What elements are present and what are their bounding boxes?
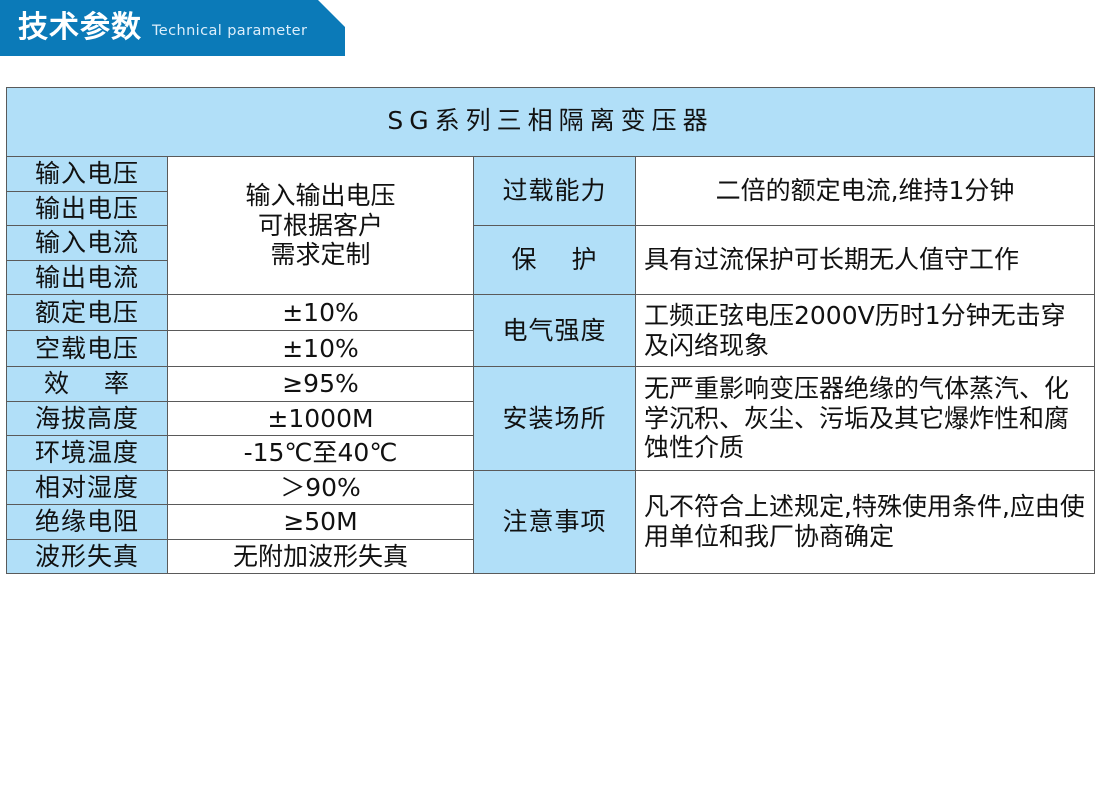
row-label-output-current: 输出电流	[7, 260, 168, 295]
row-label-no-load-voltage: 空载电压	[7, 331, 168, 367]
row-label-input-current: 输入电流	[7, 226, 168, 261]
row-label-output-voltage: 输出电压	[7, 191, 168, 226]
table-title: SG系列三相隔离变压器	[7, 88, 1095, 157]
row-label-precautions: 注意事项	[474, 470, 636, 574]
row-value-protection: 具有过流保护可长期无人值守工作	[636, 226, 1095, 295]
table-row: 输入电压 输入输出电压 可根据客户 需求定制 过载能力 二倍的额定电流,维持1分…	[7, 157, 1095, 192]
row-value-relative-humidity: ＞90%	[168, 470, 474, 505]
note-line-1: 输入输出电压	[172, 181, 469, 211]
custom-voltage-note: 输入输出电压 可根据客户 需求定制	[168, 157, 474, 295]
row-value-rated-voltage: ±10%	[168, 295, 474, 331]
banner-content: 技术参数 Technical parameter	[0, 0, 345, 56]
row-label-rated-voltage: 额定电压	[7, 295, 168, 331]
row-label-installation-site: 安装场所	[474, 367, 636, 471]
page-header-banner: 技术参数 Technical parameter	[0, 0, 1100, 56]
table-title-row: SG系列三相隔离变压器	[7, 88, 1095, 157]
row-value-insulation-resistance: ≥50M	[168, 505, 474, 540]
table-row: 效率 ≥95% 安装场所 无严重影响变压器绝缘的气体蒸汽、化学沉积、灰尘、污垢及…	[7, 367, 1095, 402]
row-label-waveform-distortion: 波形失真	[7, 539, 168, 574]
row-label-protection: 保护	[474, 226, 636, 295]
table-row: 相对湿度 ＞90% 注意事项 凡不符合上述规定,特殊使用条件,应由使用单位和我厂…	[7, 470, 1095, 505]
row-value-ambient-temperature: -15℃至40℃	[168, 436, 474, 471]
row-label-relative-humidity: 相对湿度	[7, 470, 168, 505]
banner-title-cn: 技术参数	[18, 13, 142, 43]
row-label-altitude: 海拔高度	[7, 401, 168, 436]
note-line-3: 需求定制	[172, 240, 469, 270]
row-value-efficiency: ≥95%	[168, 367, 474, 402]
row-label-overload-capacity: 过载能力	[474, 157, 636, 226]
row-value-precautions: 凡不符合上述规定,特殊使用条件,应由使用单位和我厂协商确定	[636, 470, 1095, 574]
note-line-2: 可根据客户	[172, 211, 469, 241]
row-label-efficiency: 效率	[7, 367, 168, 402]
row-label-ambient-temperature: 环境温度	[7, 436, 168, 471]
row-value-installation-site: 无严重影响变压器绝缘的气体蒸汽、化学沉积、灰尘、污垢及其它爆炸性和腐蚀性介质	[636, 367, 1095, 471]
row-label-insulation-resistance: 绝缘电阻	[7, 505, 168, 540]
row-label-dielectric-strength: 电气强度	[474, 295, 636, 367]
row-value-waveform-distortion: 无附加波形失真	[168, 539, 474, 574]
row-value-dielectric-strength: 工频正弦电压2000V历时1分钟无击穿及闪络现象	[636, 295, 1095, 367]
row-value-no-load-voltage: ±10%	[168, 331, 474, 367]
specification-table: SG系列三相隔离变压器 输入电压 输入输出电压 可根据客户 需求定制 过载能力 …	[6, 87, 1095, 574]
banner-title-en: Technical parameter	[152, 17, 307, 39]
table-row: 额定电压 ±10% 电气强度 工频正弦电压2000V历时1分钟无击穿及闪络现象	[7, 295, 1095, 331]
row-value-altitude: ±1000M	[168, 401, 474, 436]
row-value-overload-capacity: 二倍的额定电流,维持1分钟	[636, 157, 1095, 226]
row-label-input-voltage: 输入电压	[7, 157, 168, 192]
